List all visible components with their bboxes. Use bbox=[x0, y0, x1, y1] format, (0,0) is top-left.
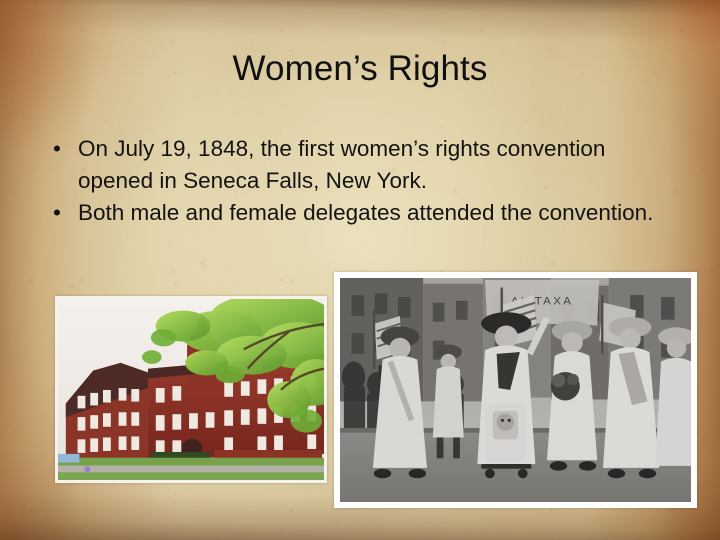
list-item: • On July 19, 1848, the first women’s ri… bbox=[47, 133, 672, 196]
slide-canvas: Women’s Rights • On July 19, 1848, the f… bbox=[0, 0, 720, 540]
suffrage-parade-photo: AL TAXA bbox=[334, 272, 697, 508]
campus-building-photo bbox=[55, 296, 327, 483]
slide-title: Women’s Rights bbox=[0, 48, 720, 90]
bullet-marker-icon: • bbox=[53, 133, 61, 165]
bullet-marker-icon: • bbox=[53, 197, 61, 229]
campus-building-illustration bbox=[58, 299, 324, 480]
suffrage-parade-illustration: AL TAXA bbox=[340, 278, 691, 502]
list-item: • Both male and female delegates attende… bbox=[47, 197, 672, 229]
bullet-text: Both male and female delegates attended … bbox=[78, 197, 672, 229]
bullet-text: On July 19, 1848, the first women’s righ… bbox=[78, 133, 672, 196]
bullet-list: • On July 19, 1848, the first women’s ri… bbox=[47, 133, 672, 230]
